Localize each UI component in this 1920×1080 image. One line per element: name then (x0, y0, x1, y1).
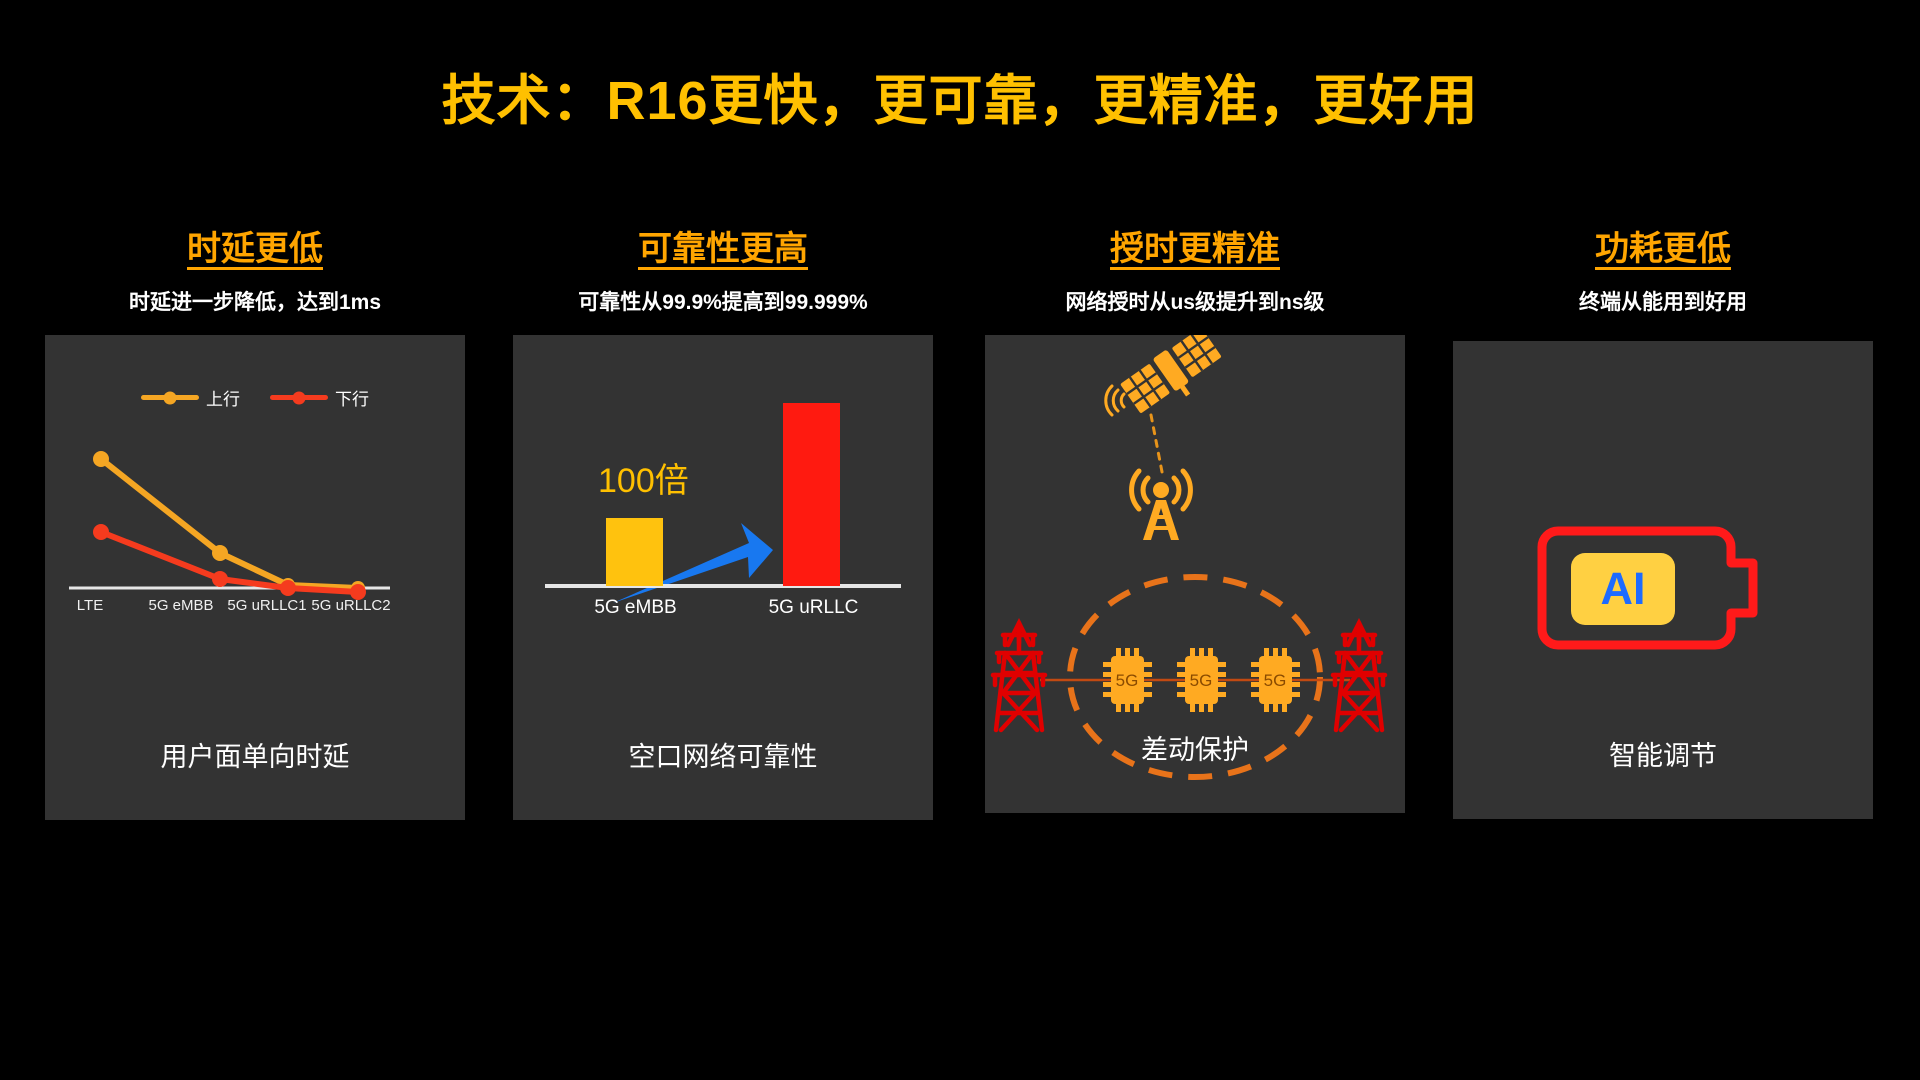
bar-5g-embb (606, 518, 663, 586)
panel-caption: 差动保护 (985, 728, 1405, 767)
bar-label-5g-embb: 5G eMBB (573, 597, 698, 619)
panel-heading: 功耗更低 (1453, 230, 1873, 269)
panel-caption: 空口网络可靠性 (513, 735, 933, 774)
panel-subtitle: 网络授时从us级提升到ns级 (985, 286, 1405, 316)
battery-icon: AI (1542, 531, 1753, 645)
battery-fill-label: AI (1601, 563, 1646, 614)
panel-power: 功耗更低 终端从能用到好用 AI 智能调节 (1453, 230, 1873, 819)
cell-tower-icon (1132, 471, 1191, 540)
panel-caption: 用户面单向时延 (45, 735, 465, 774)
satellite-icon (1106, 335, 1229, 423)
panel-subtitle: 可靠性从99.9%提高到99.999% (513, 286, 933, 316)
series-line-uplink (101, 459, 358, 588)
panel-chart-box: 100倍 5G eMBB 5G uRLLC 空口网络可靠性 (513, 335, 933, 820)
panel-heading: 授时更精准 (985, 230, 1405, 269)
series-point-downlink (280, 580, 296, 596)
chart-x-tick-labels: LTE 5G eMBB 5G uRLLC1 5G uRLLC2 (45, 597, 465, 614)
panel-heading: 时延更低 (45, 230, 465, 269)
panel-diagram-box: 5G 5G (985, 335, 1405, 813)
chip-label: 5G (1264, 671, 1287, 690)
bar-label-5g-urllc: 5G uRLLC (751, 597, 876, 619)
power-pylon-icon-right (1333, 623, 1385, 730)
series-point-uplink (212, 545, 228, 561)
x-tick-label: LTE (45, 597, 135, 614)
series-line-downlink (101, 532, 358, 592)
series-point-downlink (93, 524, 109, 540)
panel-heading: 可靠性更高 (513, 230, 933, 269)
panel-caption: 智能调节 (1453, 734, 1873, 773)
panel-timing: 授时更精准 网络授时从us级提升到ns级 (985, 230, 1405, 813)
power-pylon-icon-left (993, 623, 1045, 730)
page-title: 技术：R16更快，更可靠，更精准，更好用 (0, 56, 1920, 135)
chip-label: 5G (1190, 671, 1213, 690)
series-point-uplink (93, 451, 109, 467)
x-tick-label: 5G eMBB (135, 597, 227, 614)
bar-5g-urllc (783, 403, 840, 586)
x-tick-label: 5G uRLLC1 (227, 597, 307, 614)
series-point-downlink (212, 571, 228, 587)
chip-label: 5G (1116, 671, 1139, 690)
x-tick-label: 5G uRLLC2 (307, 597, 395, 614)
panel-subtitle: 终端从能用到好用 (1453, 286, 1873, 316)
panel-latency: 时延更低 时延进一步降低，达到1ms 上行 下行 (45, 230, 465, 820)
panel-subtitle: 时延进一步降低，达到1ms (45, 286, 465, 316)
panel-reliability: 可靠性更高 可靠性从99.9%提高到99.999% 100倍 5G eMBB 5… (513, 230, 933, 820)
satellite-link-line (1151, 415, 1163, 477)
panel-diagram-box: AI 智能调节 (1453, 341, 1873, 819)
panel-chart-box: 上行 下行 LTE 5G eMBB 5G uRL (45, 335, 465, 820)
